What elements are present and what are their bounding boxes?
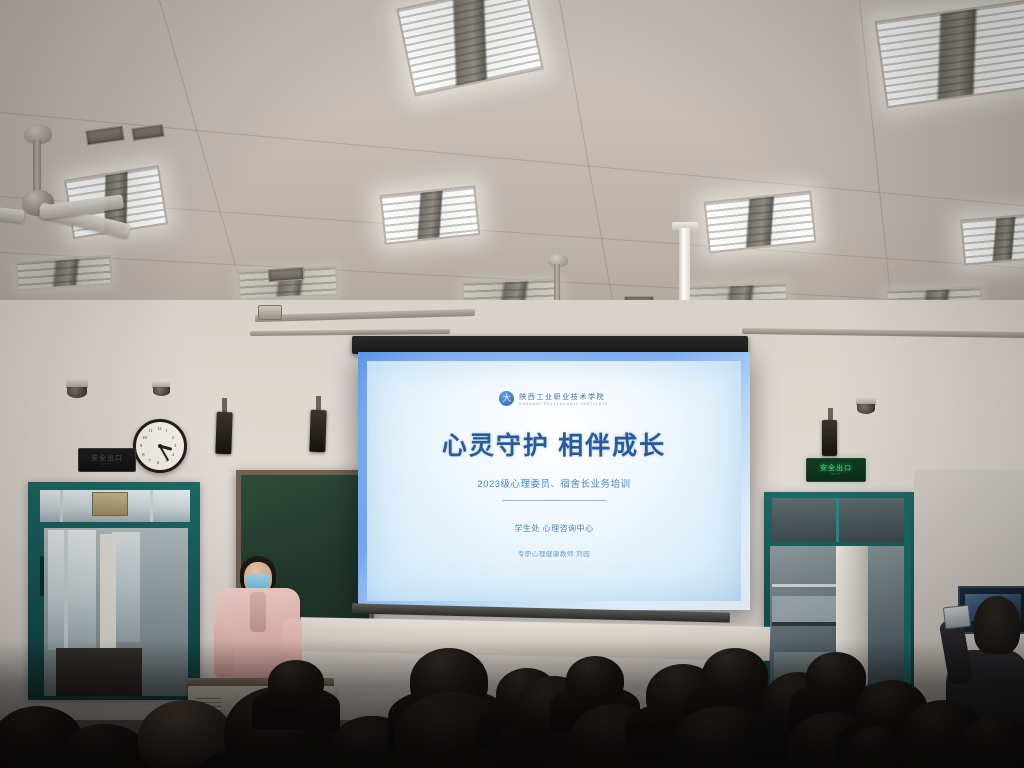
corridor-balustrade	[772, 596, 844, 622]
institution-logo-mark: 大	[499, 391, 514, 406]
clock-numeral: 2	[172, 435, 174, 440]
light-louver	[877, 2, 1024, 106]
slide-title: 心灵守护 相伴成长	[367, 426, 742, 462]
lecture-hall-photo: 121234567891011 安全出口 EXIT 安全出口 EXIT	[0, 0, 1024, 768]
ceiling-light-fixture	[960, 212, 1024, 265]
light-louver	[962, 215, 1024, 264]
transom-mullion	[60, 490, 63, 522]
clock-numeral: 8	[142, 452, 144, 457]
camera-dome	[67, 387, 87, 398]
projection-screen: 大 陕西工业职业技术学院 SHAANXI POLYTECHNIC INSTITU…	[358, 352, 750, 610]
speaker-box	[309, 410, 326, 453]
slide-subtitle: 2023级心理委员、宿舍长业务培训	[367, 476, 742, 490]
camera-dome	[153, 387, 170, 396]
clock-numeral: 12	[157, 426, 162, 431]
jacket-placket	[250, 592, 266, 632]
camera-dome	[857, 404, 875, 414]
logo-glyph: 大	[502, 394, 511, 403]
transom-mullion	[150, 490, 153, 522]
clock-numeral: 3	[174, 443, 176, 448]
clock-numeral: 10	[142, 435, 147, 440]
transom-mullion	[836, 498, 839, 542]
institution-name-cn: 陕西工业职业技术学院	[519, 392, 605, 402]
clock-numeral: 7	[149, 458, 151, 463]
screen-surface: 大 陕西工业职业技术学院 SHAANXI POLYTECHNIC INSTITU…	[358, 352, 750, 610]
slide-organization: 学生处 心理咨询中心	[367, 523, 742, 534]
phone-camera[interactable]	[943, 605, 971, 630]
slide-divider	[502, 500, 607, 501]
clock-numeral: 6	[157, 460, 159, 465]
slide-logo: 大 陕西工业职业技术学院 SHAANXI POLYTECHNIC INSTITU…	[367, 391, 742, 406]
clock-numeral: 11	[149, 428, 153, 433]
speaker-box	[822, 420, 837, 456]
transom-notice-board	[92, 492, 128, 516]
exit-sign-right-cn: 安全出口	[820, 465, 852, 472]
exit-sign-right-en: EXIT	[820, 473, 852, 476]
speaker-box	[215, 412, 232, 455]
exit-sign-left-cn: 安全出口	[91, 455, 123, 462]
slide-presenter: 专职心理健康教师 刘园	[367, 548, 742, 558]
door-transom-right	[772, 498, 906, 542]
clock-numeral: 4	[172, 452, 174, 457]
foreground-shadow	[0, 640, 1024, 768]
fan-downrod	[33, 140, 41, 196]
exit-sign-left: 安全出口 EXIT	[78, 448, 136, 472]
light-louver	[706, 193, 814, 252]
corridor-mullion	[64, 530, 68, 648]
corridor-window-left-2	[112, 532, 140, 642]
wall-clock: 121234567891011	[133, 419, 187, 473]
clock-numeral: 1	[166, 428, 168, 433]
corridor-rail-bottom	[772, 622, 844, 626]
corridor-window-left	[48, 530, 96, 650]
door-handle-left[interactable]	[40, 556, 44, 596]
corridor-pillar	[100, 534, 116, 654]
ceiling-vent	[268, 267, 305, 282]
exit-sign-right: 安全出口 EXIT	[806, 458, 866, 482]
exit-sign-left-en: EXIT	[91, 463, 123, 466]
clock-center-pin	[158, 444, 162, 448]
corridor-railing	[772, 584, 844, 587]
slide-content: 大 陕西工业职业技术学院 SHAANXI POLYTECHNIC INSTITU…	[367, 361, 742, 601]
ceiling-light-fixture	[380, 185, 481, 245]
institution-name-en: SHAANXI POLYTECHNIC INSTITUTE	[519, 402, 608, 406]
light-louver	[17, 257, 111, 289]
conduit-junction-box	[258, 305, 282, 320]
light-louver	[382, 187, 478, 242]
clock-numeral: 9	[140, 443, 142, 448]
